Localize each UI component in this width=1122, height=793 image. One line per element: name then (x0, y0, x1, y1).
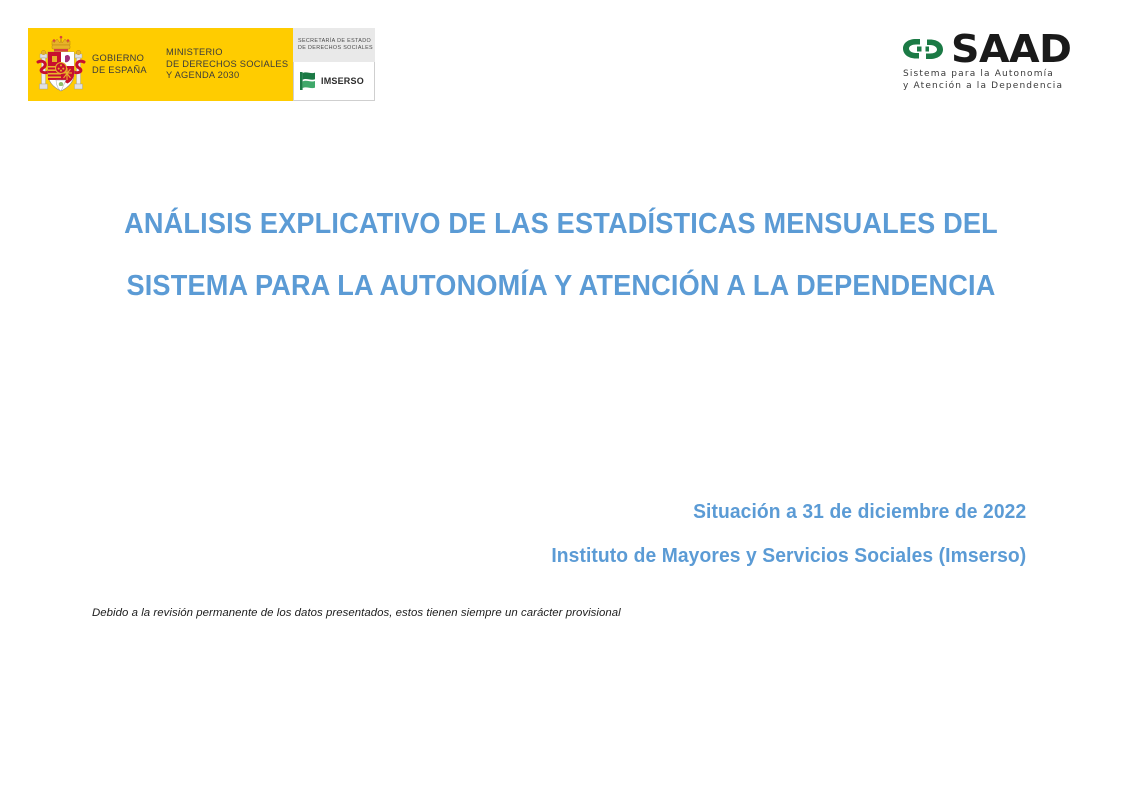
spain-coat-of-arms-icon (34, 32, 88, 98)
saad-logo-block: SAAD Sistema para la Autonomía y Atenció… (900, 30, 1078, 92)
title-line-2: SISTEMA PARA LA AUTONOMÍA Y ATENCIÓN A L… (36, 255, 1085, 317)
ministerio-line-3: Y AGENDA 2030 (166, 70, 288, 82)
saad-chain-link-icon (900, 35, 946, 63)
document-subinfo: Situación a 31 de diciembre de 2022 Inst… (521, 490, 1026, 578)
document-title: ANÁLISIS EXPLICATIVO DE LAS ESTADÍSTICAS… (0, 193, 1122, 317)
secretaria-estado-text: SECRETARÍA DE ESTADO DE DERECHOS SOCIALE… (293, 28, 375, 62)
gov-yellow-banner: GOBIERNO DE ESPAÑA MINISTERIO DE DERECHO… (28, 28, 293, 101)
government-logo-block: GOBIERNO DE ESPAÑA MINISTERIO DE DERECHO… (28, 28, 375, 101)
saad-top-row: SAAD (900, 30, 1078, 68)
ministerio-line-1: MINISTERIO (166, 47, 288, 59)
secretaria-estado-block: SECRETARÍA DE ESTADO DE DERECHOS SOCIALE… (293, 28, 375, 101)
ministerio-line-2: DE DERECHOS SOCIALES (166, 59, 288, 71)
imserso-label: IMSERSO (321, 76, 364, 86)
saad-tagline-line-2: y Atención a la Dependencia (903, 81, 1078, 93)
ministerio-text: MINISTERIO DE DERECHOS SOCIALES Y AGENDA… (166, 47, 288, 82)
title-line-1: ANÁLISIS EXPLICATIVO DE LAS ESTADÍSTICAS… (36, 193, 1085, 255)
gobierno-line-1: GOBIERNO (92, 53, 166, 65)
imserso-flag-icon (298, 71, 317, 91)
institution-line: Instituto de Mayores y Servicios Sociale… (551, 534, 1026, 578)
secretaria-line-1: SECRETARÍA DE ESTADO (298, 38, 375, 45)
gobierno-line-2: DE ESPAÑA (92, 65, 166, 77)
saad-wordmark: SAAD (951, 31, 1071, 67)
gov-text-column: GOBIERNO DE ESPAÑA MINISTERIO DE DERECHO… (92, 47, 288, 82)
imserso-logo: IMSERSO (293, 62, 375, 101)
secretaria-line-2: DE DERECHOS SOCIALES (298, 45, 375, 52)
situation-date-line: Situación a 31 de diciembre de 2022 (551, 490, 1026, 534)
saad-tagline: Sistema para la Autonomía y Atención a l… (900, 69, 1078, 92)
provisional-data-footnote: Debido a la revisión permanente de los d… (92, 607, 621, 619)
gobierno-de-espana-text: GOBIERNO DE ESPAÑA (92, 53, 166, 76)
